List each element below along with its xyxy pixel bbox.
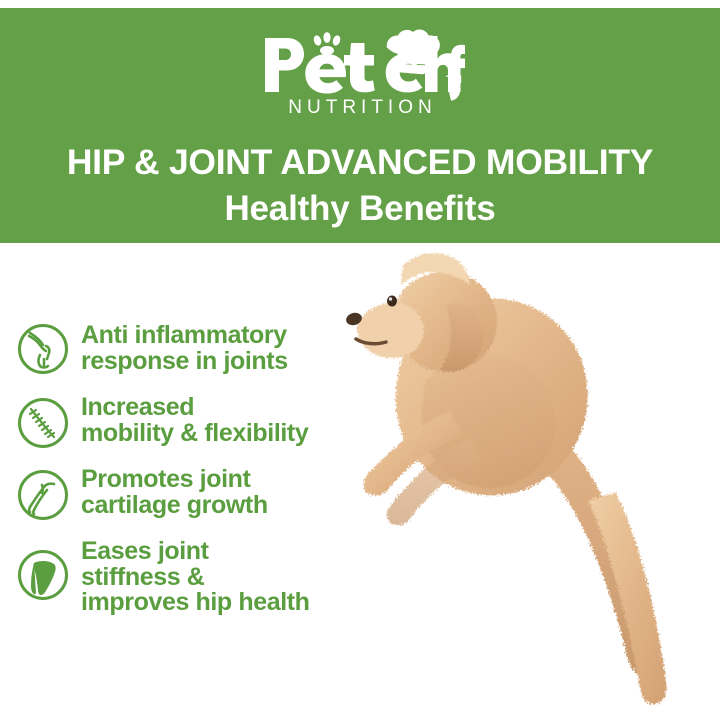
header-banner: TM NUTRITION HIP & JOINT ADVANCED MOBILI… — [0, 8, 720, 243]
list-item: Eases joint stiffness & improves hip hea… — [16, 538, 416, 616]
page-title: HIP & JOINT ADVANCED MOBILITY — [0, 145, 720, 181]
brand-logo: TM NUTRITION — [0, 26, 720, 138]
knee-joint-icon — [16, 322, 70, 376]
spine-icon — [16, 396, 70, 450]
cartilage-bone-icon — [16, 468, 70, 522]
paw-print-icon — [312, 32, 341, 55]
product-benefits-graphic: TM NUTRITION HIP & JOINT ADVANCED MOBILI… — [0, 0, 720, 720]
petchef-logotype: TM — [255, 26, 465, 104]
list-item-label: Anti inflammatory response in joints — [81, 322, 288, 374]
benefits-list: Anti inflammatory response in joints Inc… — [16, 322, 416, 616]
list-item: Promotes joint cartilage growth — [16, 466, 416, 522]
list-item: Increased mobility & flexibility — [16, 394, 416, 450]
trademark-symbol: TM — [446, 74, 462, 86]
list-item: Anti inflammatory response in joints — [16, 322, 416, 376]
page-subtitle: Healthy Benefits — [0, 191, 720, 226]
list-item-label: Eases joint stiffness & improves hip hea… — [81, 538, 310, 616]
list-item-label: Promotes joint cartilage growth — [81, 466, 268, 518]
hip-bone-icon — [16, 548, 70, 602]
dog-eye — [387, 296, 397, 307]
list-item-label: Increased mobility & flexibility — [81, 394, 308, 446]
